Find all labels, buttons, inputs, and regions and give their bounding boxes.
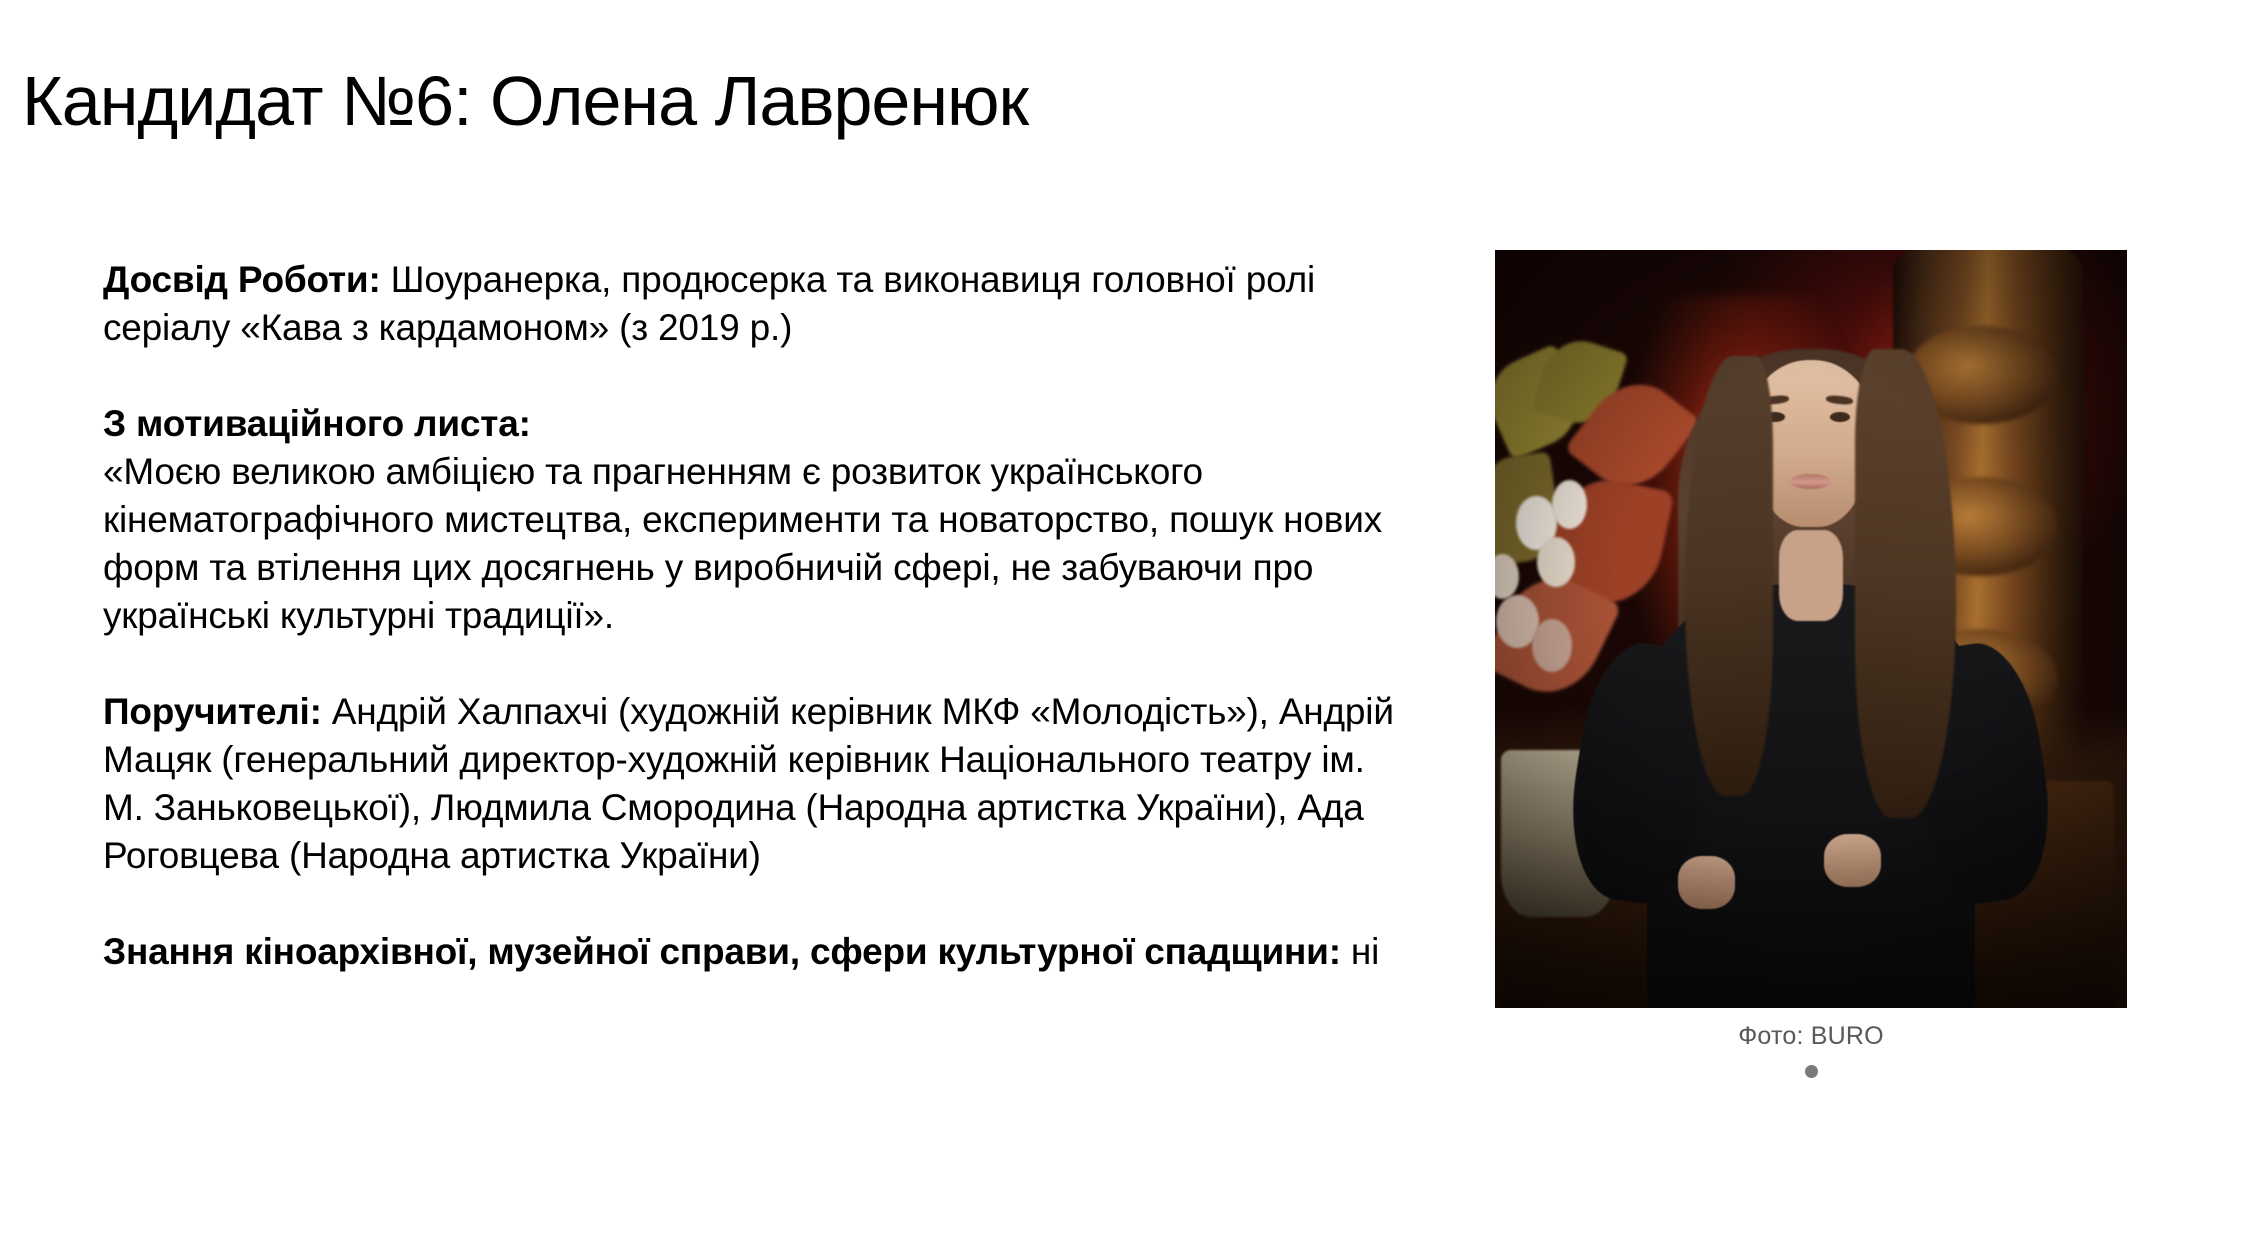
paragraph-knowledge: Знання кіноархівної, музейної справи, сф… (103, 928, 1413, 976)
label-guarantors: Поручителі: (103, 691, 322, 732)
slide-root: Кандидат №6: Олена Лавренюк Досвід Робот… (0, 0, 2254, 1258)
text-knowledge: ні (1341, 931, 1379, 972)
photo-caption: Фото: BURO (1495, 1022, 2127, 1051)
photo-vignette (1495, 250, 2127, 1008)
portrait-photo (1495, 250, 2127, 1008)
label-motivation: З мотиваційного листа: (103, 400, 1413, 448)
photo-block: Фото: BURO (1495, 250, 2127, 1078)
page-title: Кандидат №6: Олена Лавренюк (22, 61, 1028, 142)
paragraph-motivation: З мотиваційного листа:«Моєю великою амбі… (103, 400, 1413, 640)
text-motivation: «Моєю великою амбіцією та прагненням є р… (103, 451, 1382, 636)
paragraph-guarantors: Поручителі: Андрій Халпахчі (художній ке… (103, 688, 1413, 880)
label-experience: Досвід Роботи: (103, 259, 381, 300)
paragraph-experience: Досвід Роботи: Шоуранерка, продюсерка та… (103, 256, 1413, 352)
label-knowledge: Знання кіноархівної, музейної справи, сф… (103, 931, 1341, 972)
slide-progress-dot[interactable] (1805, 1065, 1818, 1078)
body-text-column: Досвід Роботи: Шоуранерка, продюсерка та… (103, 256, 1413, 976)
